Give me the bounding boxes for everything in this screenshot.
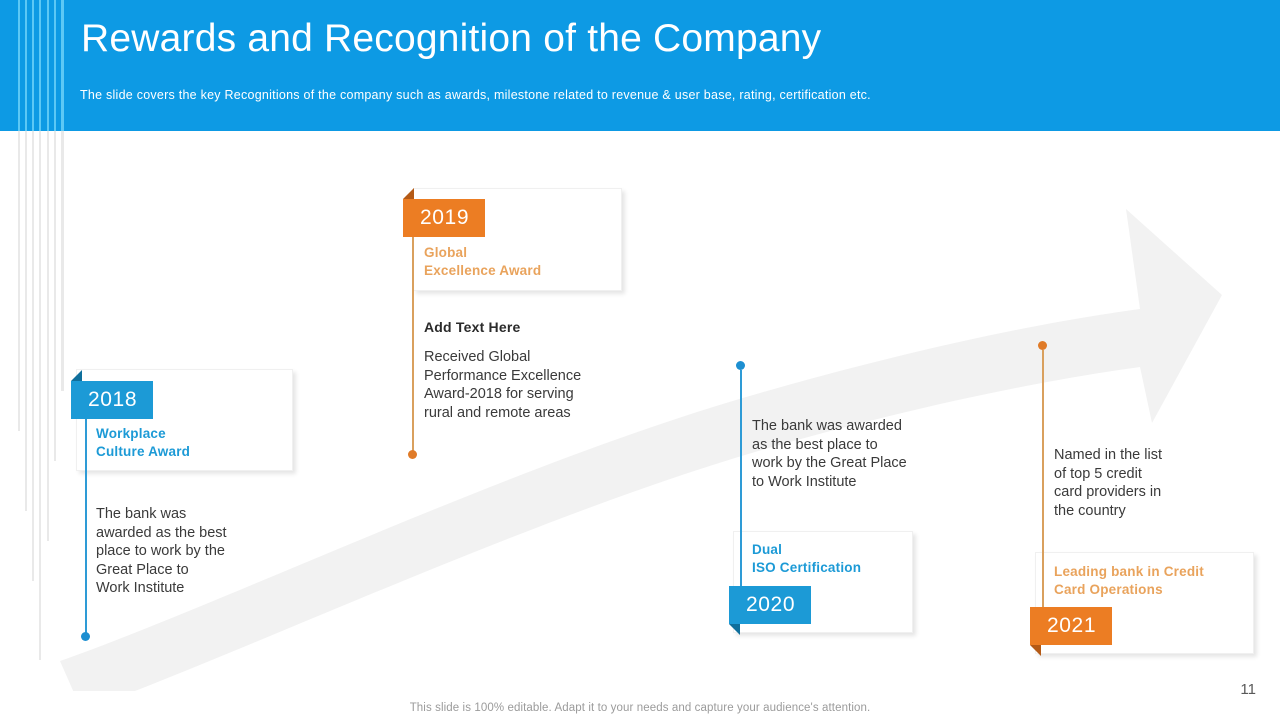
timeline-dot-2018	[81, 632, 90, 641]
year-label: 2020	[746, 593, 795, 616]
award-title-2020: Dual ISO Certification	[752, 541, 927, 577]
stripe	[61, 131, 64, 391]
year-badge-2020[interactable]: 2020	[729, 586, 811, 624]
award-title-2018: Workplace Culture Award	[96, 425, 286, 461]
stripe	[54, 0, 56, 131]
year-label: 2019	[420, 206, 469, 229]
stripe	[18, 131, 20, 431]
timeline-dot-2019	[408, 450, 417, 459]
stripe	[32, 0, 34, 131]
page-number: 11	[1240, 681, 1256, 698]
timeline-dot-2021	[1038, 341, 1047, 350]
year-badge-2021[interactable]: 2021	[1030, 607, 1112, 645]
award-description-2019: Received Global Performance Excellence A…	[424, 348, 639, 422]
ribbon-fold-icon	[71, 370, 82, 381]
timeline-dot-2020	[736, 361, 745, 370]
year-label: 2018	[88, 388, 137, 411]
award-description-2018: The bank was awarded as the best place t…	[96, 505, 276, 598]
award-description-2020: The bank was awarded as the best place t…	[752, 417, 937, 491]
timeline-connector-2021	[1042, 350, 1044, 625]
timeline-connector-2018	[85, 415, 87, 639]
stripe	[39, 131, 41, 660]
award-subhead-2019: Add Text Here	[424, 319, 520, 335]
ribbon-fold-icon	[1030, 645, 1041, 656]
stripe	[54, 131, 56, 461]
page-subtitle: The slide covers the key Recognitions of…	[80, 88, 871, 102]
stripe	[47, 131, 49, 541]
slide-root: Rewards and Recognition of the Company T…	[0, 0, 1280, 720]
stripe	[18, 0, 20, 131]
timeline-connector-2019	[412, 234, 414, 456]
stripe	[25, 0, 27, 131]
stripe	[32, 131, 34, 581]
stripe	[39, 0, 41, 131]
ribbon-fold-icon	[403, 188, 414, 199]
ribbon-fold-icon	[729, 624, 740, 635]
year-badge-2019[interactable]: 2019	[403, 199, 485, 237]
header-stripe-decoration	[0, 0, 66, 131]
award-description-2021: Named in the list of top 5 credit card p…	[1054, 446, 1229, 520]
footer-note: This slide is 100% editable. Adapt it to…	[0, 702, 1280, 714]
stripe	[47, 0, 49, 131]
body-stripe-decoration	[0, 131, 66, 660]
slide-header-band: Rewards and Recognition of the Company T…	[0, 0, 1280, 131]
stripe	[61, 0, 64, 131]
page-title: Rewards and Recognition of the Company	[81, 13, 821, 65]
timeline-connector-2020	[740, 370, 742, 604]
award-title-2019: Global Excellence Award	[424, 244, 624, 280]
stripe	[25, 131, 27, 511]
year-badge-2018[interactable]: 2018	[71, 381, 153, 419]
year-label: 2021	[1047, 614, 1096, 637]
award-title-2021: Leading bank in Credit Card Operations	[1054, 563, 1254, 599]
